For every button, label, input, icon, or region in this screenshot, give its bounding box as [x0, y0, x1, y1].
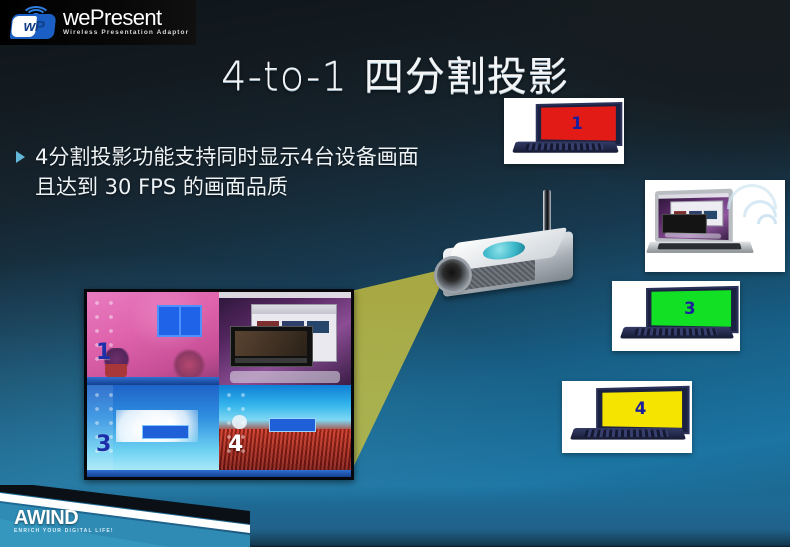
wireless-projector: [433, 226, 588, 298]
triangle-bullet-icon: [16, 151, 25, 163]
laptop-3: 3: [612, 281, 740, 351]
slide-title: 4-to-1四分割投影: [0, 44, 790, 102]
bullet-line-2: 且达到 30 FPS 的画面品质: [35, 172, 419, 202]
laptop-1-lid: 1: [536, 102, 623, 146]
screen-quadrant-4: 4: [219, 385, 351, 478]
awind-logo: AWIND ENRICH YOUR DIGITAL LIFE!: [14, 508, 114, 535]
wp-mark-label: wP: [24, 18, 45, 35]
brand-tagline: Wireless Presentation Adaptor: [63, 28, 189, 38]
laptop-1-number: 1: [571, 114, 583, 134]
title-latin: 4-to-1: [221, 54, 348, 100]
awind-tagline: ENRICH YOUR DIGITAL LIFE!: [14, 528, 114, 535]
wepresent-logo-banner: wP wePresent Wireless Presentation Adapt…: [0, 0, 196, 45]
wifi-signal-icon: [725, 182, 781, 238]
laptop-4-screen: 4: [602, 390, 683, 428]
laptop-1-screen: 1: [541, 107, 615, 141]
bullet-item: 4分割投影功能支持同时显示4台设备画面 且达到 30 FPS 的画面品质: [14, 142, 514, 202]
screen-quadrant-1: 1: [87, 292, 219, 385]
laptop-3-screen: 3: [652, 290, 731, 326]
laptop-2-lid: [655, 189, 733, 245]
title-cjk: 四分割投影: [364, 54, 569, 100]
screen-quadrant-2: [219, 292, 351, 385]
taskbar: [219, 470, 351, 477]
laptop-3-number: 3: [684, 298, 696, 318]
bullet-text: 4分割投影功能支持同时显示4台设备画面 且达到 30 FPS 的画面品质: [35, 142, 419, 202]
bullet-line-1: 4分割投影功能支持同时显示4台设备画面: [35, 145, 419, 169]
quadrant-3-number: 3: [96, 432, 111, 457]
brand-name: wePresent: [63, 8, 189, 28]
quadrant-1-number: 1: [96, 340, 111, 365]
laptop-1: 1: [504, 98, 624, 164]
projector-lens-icon: [437, 259, 469, 291]
laptop-4-lid: 4: [596, 386, 689, 434]
laptop-3-lid: 3: [646, 285, 738, 332]
laptop-4: 4: [562, 381, 692, 453]
screen-quadrant-3: 3: [87, 385, 219, 478]
taskbar: [87, 377, 219, 384]
mac-dock: [230, 371, 341, 383]
laptop-2-screen: [659, 193, 729, 240]
wepresent-logo-icon: wP: [9, 5, 57, 41]
4-split-projection-screen: 1 3 4: [84, 289, 354, 480]
quadrant-4-number: 4: [228, 432, 243, 457]
laptop-2: [645, 180, 785, 272]
laptop-4-number: 4: [635, 399, 647, 419]
presentation-slide: wP wePresent Wireless Presentation Adapt…: [0, 0, 790, 547]
taskbar: [87, 470, 219, 477]
wepresent-mark-text: wP: [14, 16, 54, 37]
wepresent-wordmark: wePresent Wireless Presentation Adaptor: [63, 8, 189, 38]
awind-wordmark: AWIND: [14, 508, 114, 528]
